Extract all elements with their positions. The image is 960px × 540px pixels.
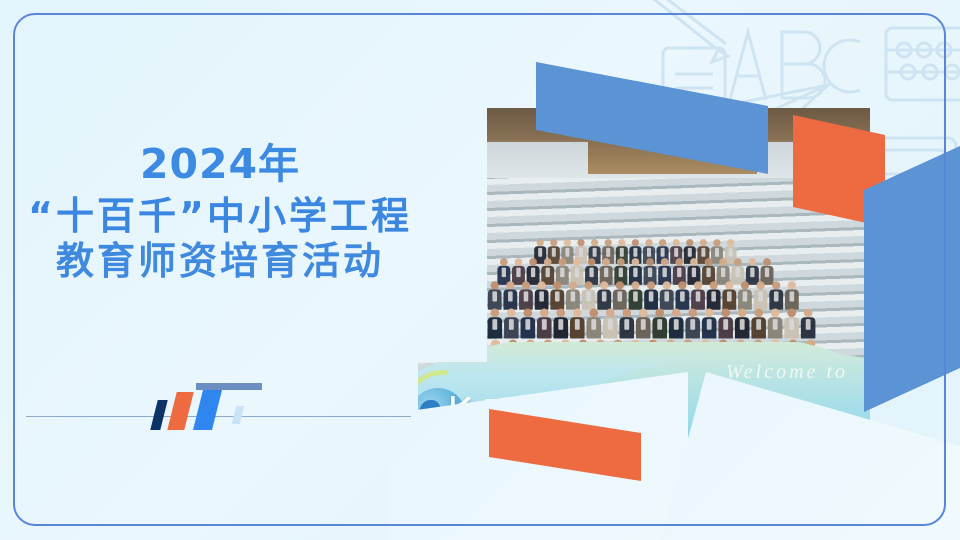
slide-frame-border (13, 13, 946, 526)
presentation-slide: 悟理 Welcome to 长三角物理研 见科学 2024年 “十百千”中小学工… (0, 0, 960, 540)
